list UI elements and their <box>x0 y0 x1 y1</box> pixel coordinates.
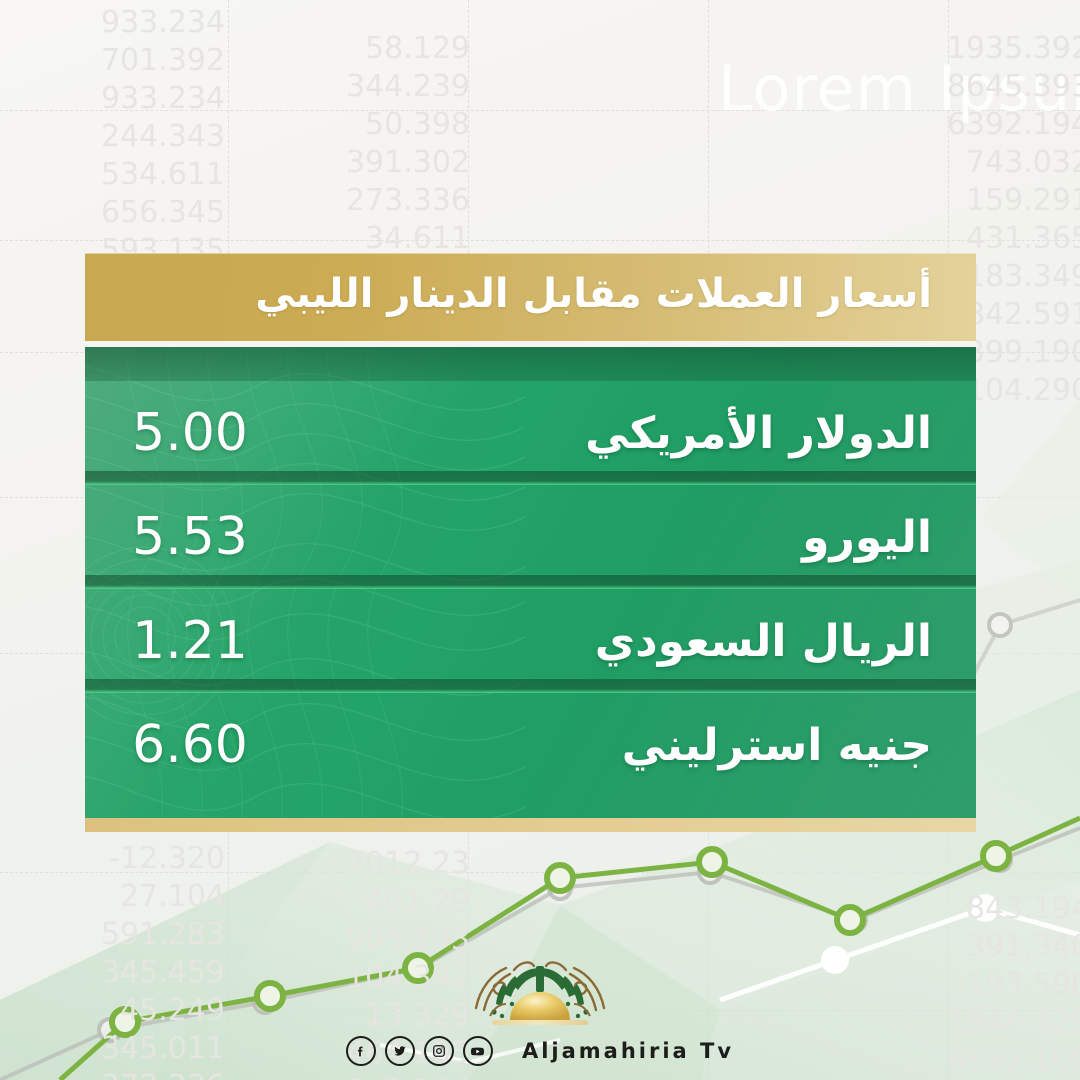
background-number: 50.398 <box>230 106 470 144</box>
table-row[interactable]: 5.00 الدولار الأمريكي <box>85 381 976 485</box>
social-links: Aljamahiria Tv <box>346 1036 734 1066</box>
background-number: 1935.392 <box>700 30 1080 68</box>
rates-table: 5.00 الدولار الأمريكي 5.53 اليورو 1.21 ا… <box>85 347 976 818</box>
rates-row-list: 5.00 الدولار الأمريكي 5.53 اليورو 1.21 ا… <box>85 381 976 797</box>
background-number: 401.29 <box>230 883 470 921</box>
table-row[interactable]: 1.21 الريال السعودي <box>85 589 976 693</box>
card-gold-footer-bar <box>85 818 976 832</box>
background-numbers-center: 58.129344.23950.398391.302273.33634.611 <box>230 30 470 258</box>
background-number: 58.129 <box>230 30 470 68</box>
currency-name: اليورو <box>802 512 976 563</box>
rate-value: 5.53 <box>85 507 295 567</box>
row-separator <box>85 575 976 589</box>
background-number: 534.611 <box>0 156 225 194</box>
background-number: 8645.393 <box>700 68 1080 106</box>
card-title-bar: أسعار العملات مقابل الدينار الليبي <box>85 253 976 341</box>
background-number: 933.234 <box>0 4 225 42</box>
instagram-icon[interactable] <box>424 1036 454 1066</box>
background-number: 656.345 <box>0 194 225 232</box>
twitter-icon[interactable] <box>385 1036 415 1066</box>
background-number: 159.291 <box>700 182 1080 220</box>
background-number: 244.343 <box>0 118 225 156</box>
page-title: أسعار العملات مقابل الدينار الليبي <box>255 271 976 323</box>
facebook-icon[interactable] <box>346 1036 376 1066</box>
currency-name: الريال السعودي <box>595 616 976 667</box>
background-number: 933.234 <box>0 80 225 118</box>
rate-value: 1.21 <box>85 611 295 671</box>
table-row[interactable]: 6.60 جنيه استرليني <box>85 693 976 797</box>
rate-value: 5.00 <box>85 403 295 463</box>
aljamahiria-logo-icon <box>450 946 630 1032</box>
background-number: 6392.194 <box>700 106 1080 144</box>
youtube-icon[interactable] <box>463 1036 493 1066</box>
channel-name: Aljamahiria Tv <box>522 1039 734 1063</box>
background-number: 27.104 <box>0 878 225 916</box>
currency-rates-card: أسعار العملات مقابل الدينار الليبي <box>85 253 976 832</box>
background-number: 344.239 <box>230 68 470 106</box>
background-number: 843.194 <box>230 1073 470 1080</box>
background-number: -12.320 <box>0 840 225 878</box>
table-row[interactable]: 5.53 اليورو <box>85 485 976 589</box>
background-number: 273.336 <box>230 182 470 220</box>
background-number: 273.336 <box>0 1068 225 1080</box>
background-number: 701.392 <box>0 42 225 80</box>
rate-value: 6.60 <box>85 715 295 775</box>
background-number: 2012.23 <box>230 845 470 883</box>
background-number: 743.032 <box>700 144 1080 182</box>
row-separator <box>85 679 976 693</box>
background-number: 843.194 <box>700 890 1080 928</box>
screenshot-root: Lorem Ipsum 933.234701.392933.234244.343… <box>0 0 1080 1080</box>
currency-name: جنيه استرليني <box>622 720 976 771</box>
table-top-band <box>85 347 976 381</box>
background-number: 391.302 <box>230 144 470 182</box>
row-separator <box>85 471 976 485</box>
currency-name: الدولار الأمريكي <box>585 408 976 459</box>
channel-footer: Aljamahiria Tv <box>0 946 1080 1066</box>
